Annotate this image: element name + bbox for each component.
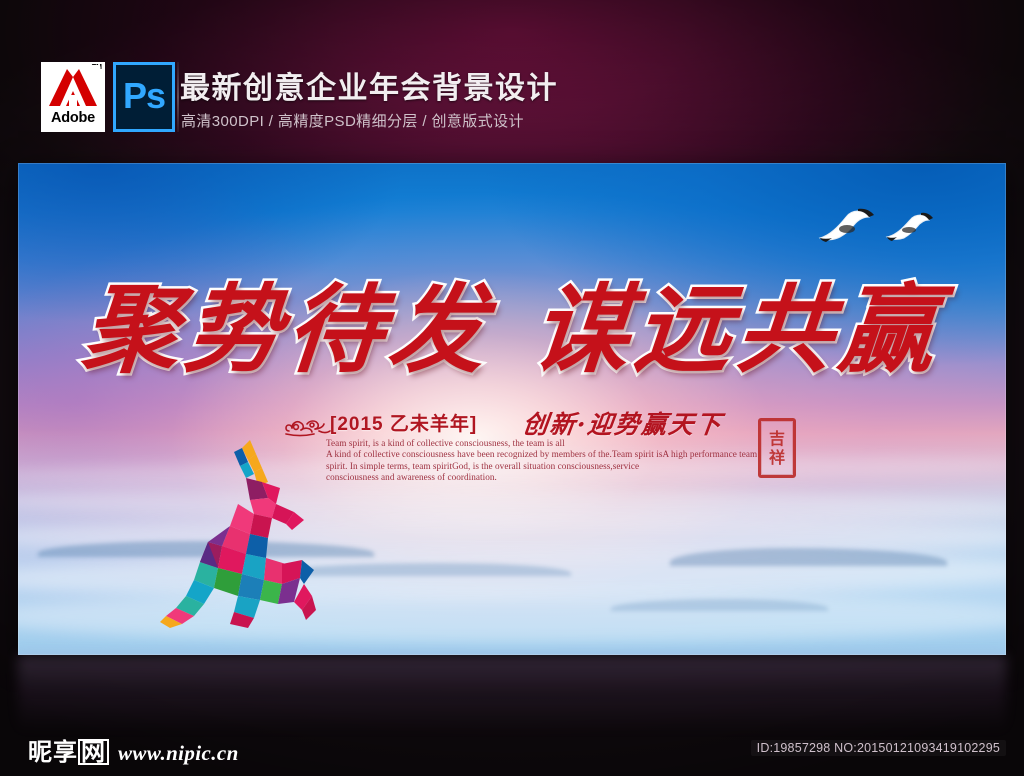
seal-char-top: 吉 <box>769 429 785 448</box>
adobe-logo: TM Adobe <box>41 62 105 132</box>
poster-artwork: 聚势待发 谋远共赢 <box>18 163 1006 655</box>
lowpoly-goat-illustration <box>138 438 318 628</box>
seagull-icon <box>816 205 878 243</box>
seal-stamp: 吉 祥 <box>758 418 796 478</box>
brand-name-cn-text: 昵享 <box>28 738 78 766</box>
brand-name-cn: 昵享网 <box>28 732 109 767</box>
photoshop-logo-text: Ps <box>123 78 165 114</box>
english-line: spirit. In simple terms, team spiritGod,… <box>326 461 756 472</box>
header-bar: TM Adobe Ps 最新创意企业年会背景设计 高清300DPI / 高精度P… <box>0 0 1024 155</box>
page-subtitle: 高清300DPI / 高精度PSD精细分层 / 创意版式设计 <box>181 112 524 132</box>
asset-identifier: ID:19857298 NO:20150121093419102295 <box>751 740 1006 756</box>
sky-gradient-right <box>433 163 1006 379</box>
year-badge: [2015 乙未羊年] <box>330 409 477 436</box>
poster-preview[interactable]: 聚势待发 谋远共赢 <box>18 163 1006 655</box>
site-brand[interactable]: 昵享网 www.nipic.cn <box>28 732 239 767</box>
english-line: Team spirit, is a kind of collective con… <box>326 438 756 449</box>
adobe-a-icon <box>46 65 100 110</box>
photoshop-logo: Ps <box>113 62 175 132</box>
sky-gradient-left <box>18 163 472 330</box>
brand-url[interactable]: www.nipic.cn <box>118 741 239 766</box>
adobe-logo-text: Adobe <box>51 110 95 127</box>
english-line: consciousness and awareness of coordinat… <box>326 472 756 483</box>
seagull-icon <box>884 211 934 243</box>
brand-name-cn-boxed: 网 <box>78 739 109 765</box>
page-title: 最新创意企业年会背景设计 <box>180 70 558 108</box>
poster-slogan: 创新·迎势赢天下 <box>521 405 725 441</box>
seal-char-bottom: 祥 <box>769 448 785 467</box>
footer-bar: 昵享网 www.nipic.cn ID:19857298 NO:20150121… <box>0 720 1024 776</box>
poster-english-paragraph: Team spirit, is a kind of collective con… <box>326 438 756 484</box>
english-line: A kind of collective consciousness have … <box>326 449 756 460</box>
header-divider <box>177 62 179 132</box>
